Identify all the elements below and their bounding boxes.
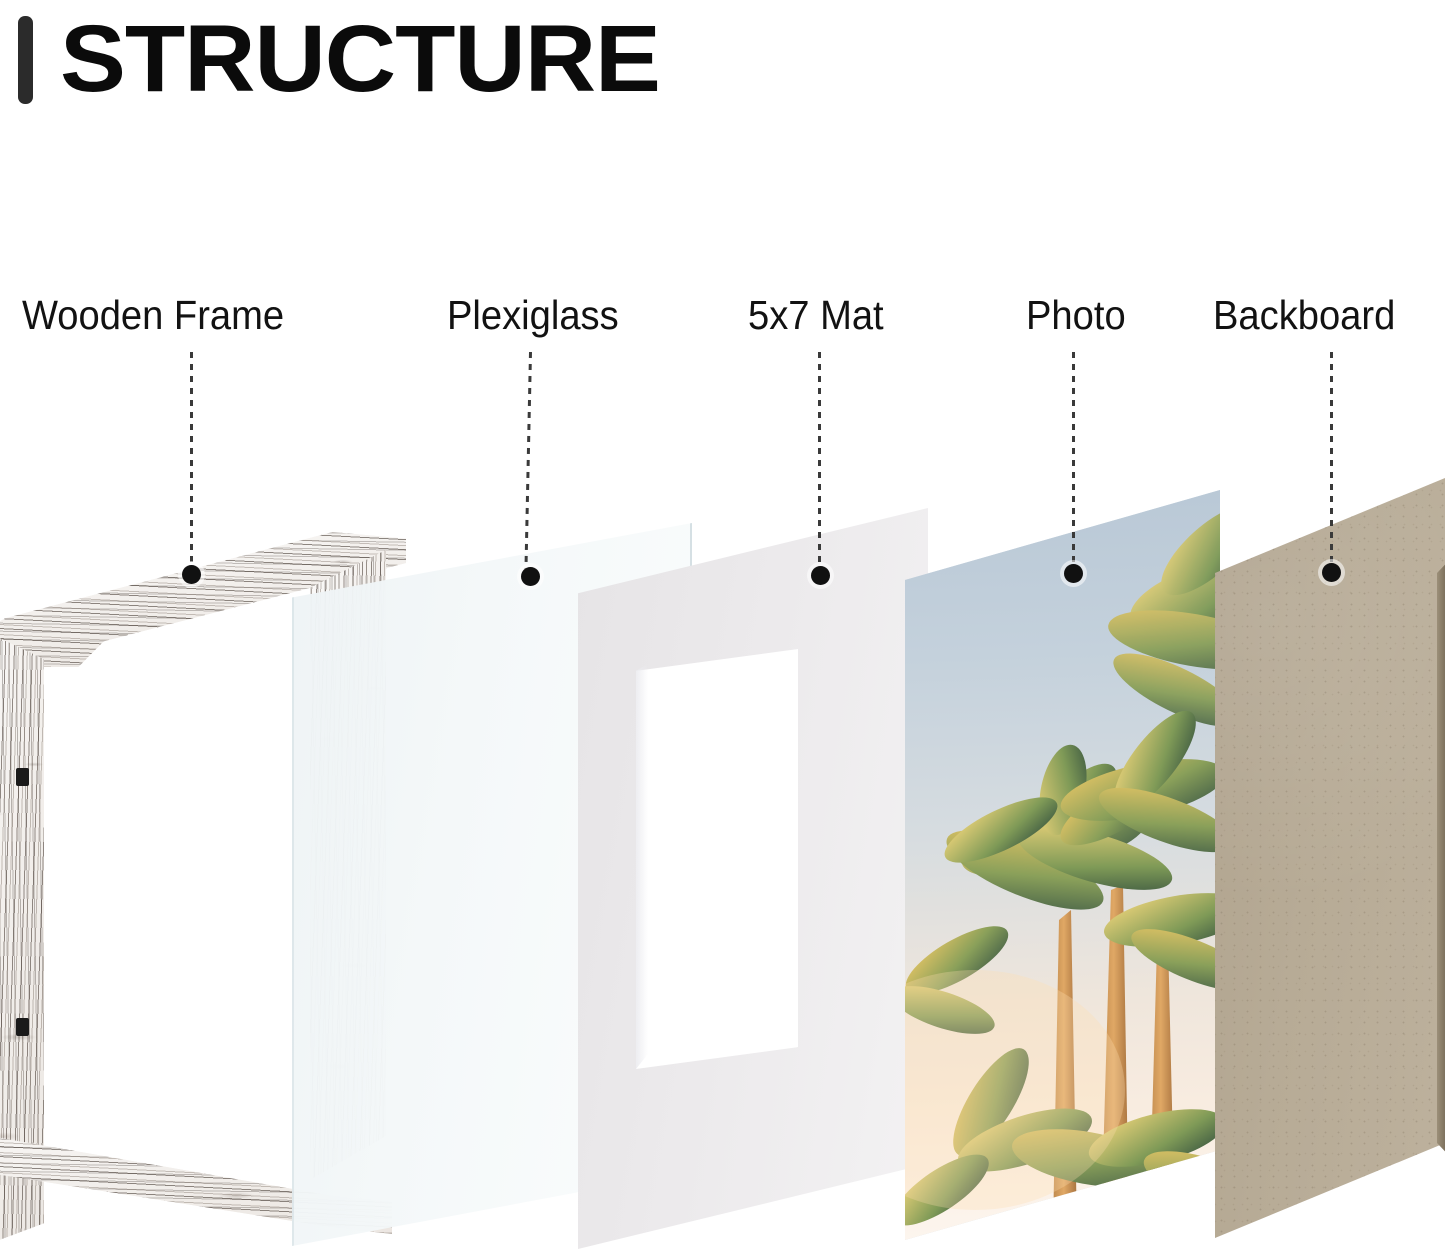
leader-line-wooden-frame [190, 352, 193, 568]
label-photo: Photo [1026, 292, 1126, 339]
layer-backboard [1215, 478, 1445, 1238]
frame-clip-lower [16, 1018, 29, 1036]
leader-dot-mat [811, 566, 830, 585]
photo-palms [905, 490, 1220, 1240]
layer-photo [905, 490, 1220, 1240]
leader-dot-photo [1064, 564, 1083, 583]
photo-artwork [905, 490, 1220, 1240]
backboard-edge [1437, 478, 1445, 1238]
leader-line-photo [1072, 352, 1075, 566]
label-plexiglass: Plexiglass [447, 292, 619, 339]
label-backboard: Backboard [1213, 292, 1395, 339]
leader-dot-backboard [1322, 563, 1341, 582]
frame-opening [16, 618, 316, 1138]
label-wooden-frame: Wooden Frame [22, 292, 284, 339]
title-accent-bar [18, 16, 33, 104]
label-mat: 5x7 Mat [748, 292, 884, 339]
leader-dot-wooden-frame [182, 565, 201, 584]
frame-clip-upper [16, 768, 29, 786]
page-title-block: STRUCTURE [0, 0, 1445, 130]
leader-dot-plexiglass [521, 567, 540, 586]
leader-line-mat [818, 352, 821, 568]
mat-window-bevel [636, 649, 648, 1069]
leader-line-backboard [1330, 352, 1333, 564]
page-title: STRUCTURE [60, 4, 660, 114]
mat-window-cutout [636, 649, 798, 1069]
exploded-assembly-diagram [0, 430, 1445, 1241]
